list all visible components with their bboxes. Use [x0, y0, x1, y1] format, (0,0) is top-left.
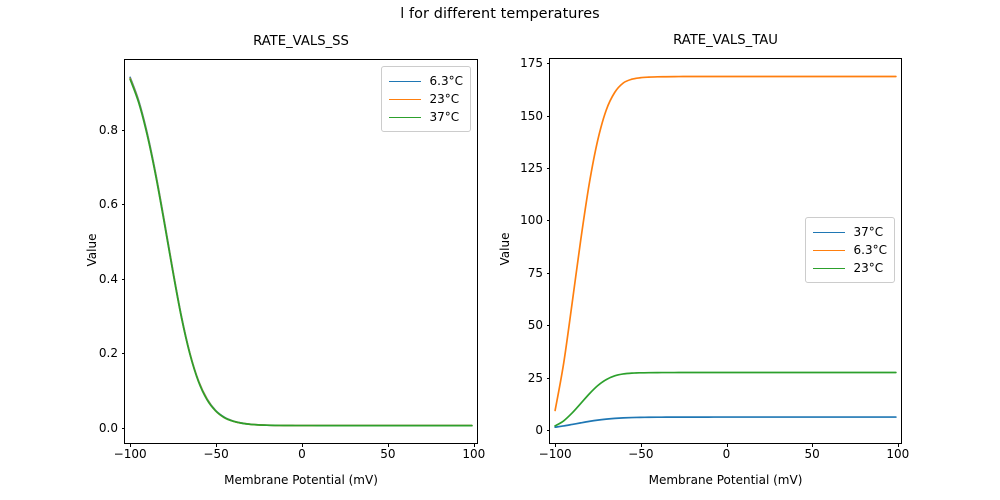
y-tick-mark [547, 430, 551, 431]
y-tick-label: 0.6 [99, 197, 118, 211]
y-axis-label-left: Value [85, 220, 99, 280]
subplot-title-left: RATE_VALS_SS [125, 34, 477, 49]
y-tick-label: 0.2 [99, 346, 118, 360]
legend-item-6.3°C[interactable]: 6.3°C [813, 241, 887, 259]
x-tick-mark [474, 443, 475, 447]
legend-item-6.3°C[interactable]: 6.3°C [389, 72, 463, 90]
legend-label: 23°C [430, 92, 460, 106]
y-tick-label: 50 [528, 318, 543, 332]
legend-label: 37°C [854, 225, 884, 239]
legend-line-swatch-icon [389, 81, 421, 82]
legend-line-swatch-icon [813, 268, 845, 269]
x-tick-label: 50 [380, 447, 395, 461]
x-tick-mark [216, 443, 217, 447]
x-tick-label: 0 [723, 447, 731, 461]
y-tick-label: 125 [520, 161, 543, 175]
y-tick-label: 0.0 [99, 421, 118, 435]
axes-rate-vals-ss: RATE_VALS_SS −100−50050100 0.00.20.40.60… [124, 59, 478, 444]
series-line-37°C [555, 417, 896, 427]
legend-line-swatch-icon [389, 99, 421, 100]
y-tick-label: 0.8 [99, 123, 118, 137]
x-tick-mark [898, 443, 899, 447]
x-tick-mark [641, 443, 642, 447]
legend-line-swatch-icon [813, 232, 845, 233]
y-tick-mark [122, 204, 126, 205]
y-tick-mark [547, 325, 551, 326]
legend-item-23°C[interactable]: 23°C [389, 90, 463, 108]
legend-line-swatch-icon [389, 117, 421, 118]
y-tick-mark [547, 273, 551, 274]
legend-label: 37°C [430, 110, 460, 124]
x-tick-label: 100 [886, 447, 909, 461]
x-tick-mark [388, 443, 389, 447]
y-tick-mark [122, 353, 126, 354]
y-tick-mark [547, 378, 551, 379]
x-tick-mark [727, 443, 728, 447]
y-axis-label-right: Value [498, 219, 512, 279]
x-tick-label: −100 [539, 447, 572, 461]
y-tick-label: 175 [520, 56, 543, 70]
legend-label: 6.3°C [430, 74, 463, 88]
y-tick-mark [122, 130, 126, 131]
y-tick-mark [547, 220, 551, 221]
legend-item-37°C[interactable]: 37°C [813, 223, 887, 241]
legend-left[interactable]: 6.3°C23°C37°C [381, 66, 471, 132]
y-tick-mark [547, 63, 551, 64]
x-axis-label-left: Membrane Potential (mV) [125, 473, 477, 487]
y-tick-label: 0 [535, 423, 543, 437]
y-tick-mark [547, 168, 551, 169]
x-tick-mark [812, 443, 813, 447]
legend-label: 23°C [854, 261, 884, 275]
y-tick-mark [122, 428, 126, 429]
legend-right[interactable]: 37°C6.3°C23°C [805, 217, 895, 283]
x-tick-label: 0 [298, 447, 306, 461]
x-tick-label: −50 [203, 447, 228, 461]
x-tick-mark [555, 443, 556, 447]
x-tick-label: 100 [462, 447, 485, 461]
y-tick-mark [122, 279, 126, 280]
y-tick-label: 25 [528, 371, 543, 385]
x-tick-mark [302, 443, 303, 447]
axes-rate-vals-tau: RATE_VALS_TAU −100−50050100 025507510012… [549, 58, 902, 444]
y-tick-label: 75 [528, 266, 543, 280]
y-tick-label: 100 [520, 213, 543, 227]
y-tick-label: 0.4 [99, 272, 118, 286]
figure-suptitle: l for different temperatures [0, 6, 1000, 22]
x-tick-label: 50 [805, 447, 820, 461]
legend-item-23°C[interactable]: 23°C [813, 259, 887, 277]
x-tick-label: −100 [114, 447, 147, 461]
legend-line-swatch-icon [813, 250, 845, 251]
legend-item-37°C[interactable]: 37°C [389, 108, 463, 126]
y-tick-label: 150 [520, 109, 543, 123]
subplot-title-right: RATE_VALS_TAU [550, 33, 901, 48]
x-tick-mark [130, 443, 131, 447]
y-tick-mark [547, 116, 551, 117]
x-axis-label-right: Membrane Potential (mV) [550, 473, 901, 487]
legend-label: 6.3°C [854, 243, 887, 257]
x-tick-label: −50 [628, 447, 653, 461]
matplotlib-figure: l for different temperatures RATE_VALS_S… [0, 0, 1000, 500]
